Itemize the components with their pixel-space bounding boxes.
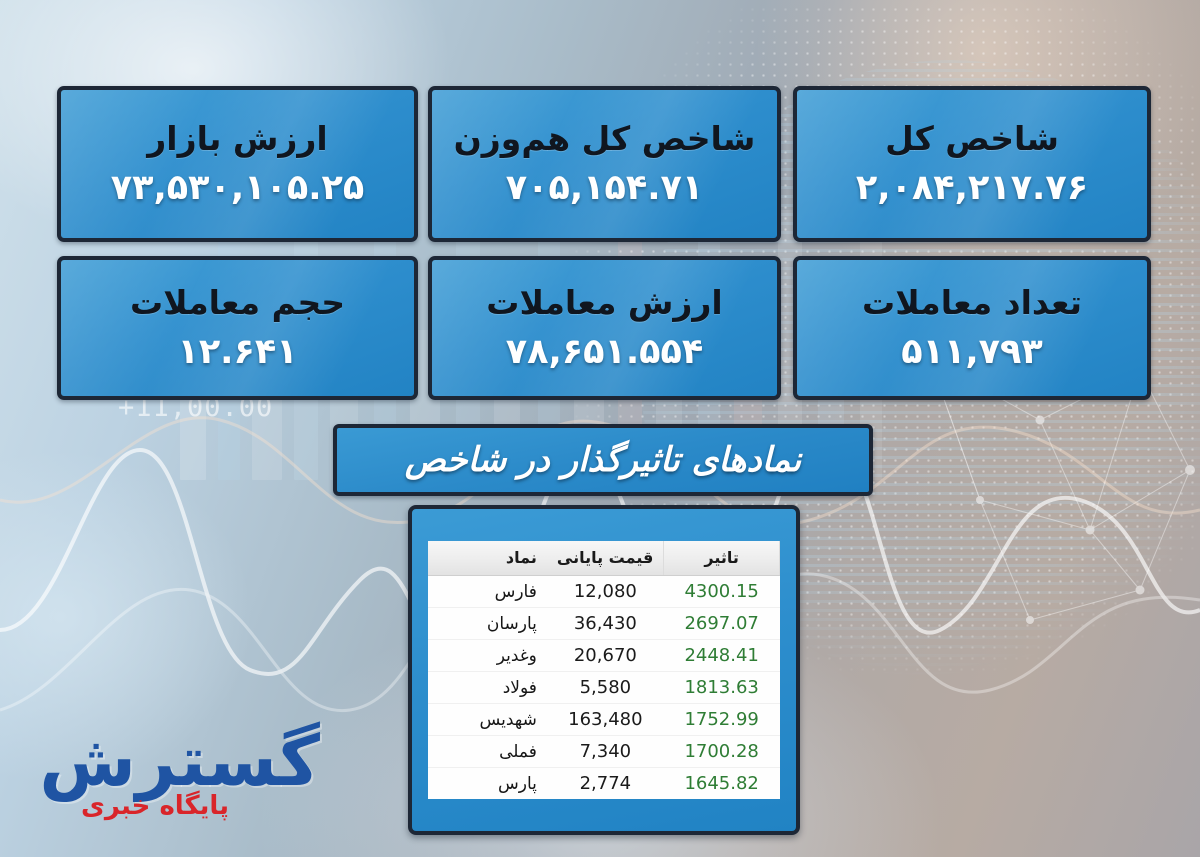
stat-card-title: شاخص کل xyxy=(885,122,1059,155)
stat-card-value: ۷۰۵,۱۵۴.۷۱ xyxy=(506,171,704,206)
cell-impact: 1700.28 xyxy=(664,736,780,768)
stat-card-value: ۷۸,۶۵۱.۵۵۴ xyxy=(506,335,704,370)
stat-card-title: تعداد معاملات xyxy=(862,286,1082,319)
table-body: 4300.1512,080فارس2697.0736,430پارسان2448… xyxy=(428,576,780,800)
stat-card-title: حجم معاملات xyxy=(130,286,345,319)
stat-card-market-value: ارزش بازار ۷۳,۵۳۰,۱۰۵.۲۵ xyxy=(57,86,418,242)
cell-closing-price: 20,670 xyxy=(547,640,664,672)
site-logo: گسترش پایگاه خبری xyxy=(50,728,320,840)
table-header-row: تاثیر قیمت پایانی نماد xyxy=(428,541,780,576)
stat-card-title: ارزش بازار xyxy=(147,122,327,155)
card-sheen xyxy=(432,90,777,238)
cell-closing-price: 12,080 xyxy=(547,576,664,608)
table-header: تاثیر قیمت پایانی نماد xyxy=(428,541,780,576)
influential-symbols-table-panel: تاثیر قیمت پایانی نماد 4300.1512,080فارس… xyxy=(408,505,800,835)
stat-card-trade-value: ارزش معاملات ۷۸,۶۵۱.۵۵۴ xyxy=(428,256,781,400)
table-row: 2697.0736,430پارسان xyxy=(428,608,780,640)
cell-impact: 1813.63 xyxy=(664,672,780,704)
column-header-closing-price: قیمت پایانی xyxy=(547,541,664,576)
table-row: 1700.287,340فملی xyxy=(428,736,780,768)
cell-symbol: فارس xyxy=(428,576,547,608)
card-sheen xyxy=(797,260,1147,396)
cell-impact: 2697.07 xyxy=(664,608,780,640)
section-banner-influential-symbols: نمادهای تاثیرگذار در شاخص xyxy=(333,424,873,496)
cell-symbol: شهدیس xyxy=(428,704,547,736)
table-row: 4300.1512,080فارس xyxy=(428,576,780,608)
cell-symbol: وغدیر xyxy=(428,640,547,672)
cell-closing-price: 2,774 xyxy=(547,768,664,800)
stat-card-title: شاخص کل هم‌وزن xyxy=(454,122,756,155)
table-row: 1645.822,774پارس xyxy=(428,768,780,800)
cell-impact: 1752.99 xyxy=(664,704,780,736)
stat-card-trade-volume: حجم معاملات ۱۲.۶۴۱ xyxy=(57,256,418,400)
column-header-symbol: نماد xyxy=(428,541,547,576)
cell-symbol: پارس xyxy=(428,768,547,800)
cell-symbol: فملی xyxy=(428,736,547,768)
card-sheen xyxy=(432,260,777,396)
card-sheen xyxy=(61,260,414,396)
column-header-impact: تاثیر xyxy=(664,541,780,576)
stat-card-value: ۱۲.۶۴۱ xyxy=(177,335,297,370)
stat-card-title: ارزش معاملات xyxy=(486,286,722,319)
table-row: 2448.4120,670وغدیر xyxy=(428,640,780,672)
stat-card-value: ۲,۰۸۴,۲۱۷.۷۶ xyxy=(856,171,1088,206)
cell-closing-price: 163,480 xyxy=(547,704,664,736)
cell-symbol: فولاد xyxy=(428,672,547,704)
section-banner-title: نمادهای تاثیرگذار در شاخص xyxy=(405,440,801,480)
influential-symbols-table: تاثیر قیمت پایانی نماد 4300.1512,080فارس… xyxy=(428,541,780,799)
stat-card-equal-weight-index: شاخص کل هم‌وزن ۷۰۵,۱۵۴.۷۱ xyxy=(428,86,781,242)
cell-impact: 4300.15 xyxy=(664,576,780,608)
cell-impact: 1645.82 xyxy=(664,768,780,800)
table-row: 1813.635,580فولاد xyxy=(428,672,780,704)
stat-card-total-index: شاخص کل ۲,۰۸۴,۲۱۷.۷۶ xyxy=(793,86,1151,242)
cell-closing-price: 5,580 xyxy=(547,672,664,704)
card-sheen xyxy=(797,90,1147,238)
stat-card-trade-count: تعداد معاملات ۵۱۱,۷۹۳ xyxy=(793,256,1151,400)
site-logo-name: گسترش xyxy=(50,728,320,795)
cell-impact: 2448.41 xyxy=(664,640,780,672)
card-sheen xyxy=(61,90,414,238)
table-row: 1752.99163,480شهدیس xyxy=(428,704,780,736)
cell-closing-price: 36,430 xyxy=(547,608,664,640)
stat-card-value: ۷۳,۵۳۰,۱۰۵.۲۵ xyxy=(111,171,365,206)
cell-closing-price: 7,340 xyxy=(547,736,664,768)
stat-card-value: ۵۱۱,۷۹۳ xyxy=(901,335,1042,370)
cell-symbol: پارسان xyxy=(428,608,547,640)
